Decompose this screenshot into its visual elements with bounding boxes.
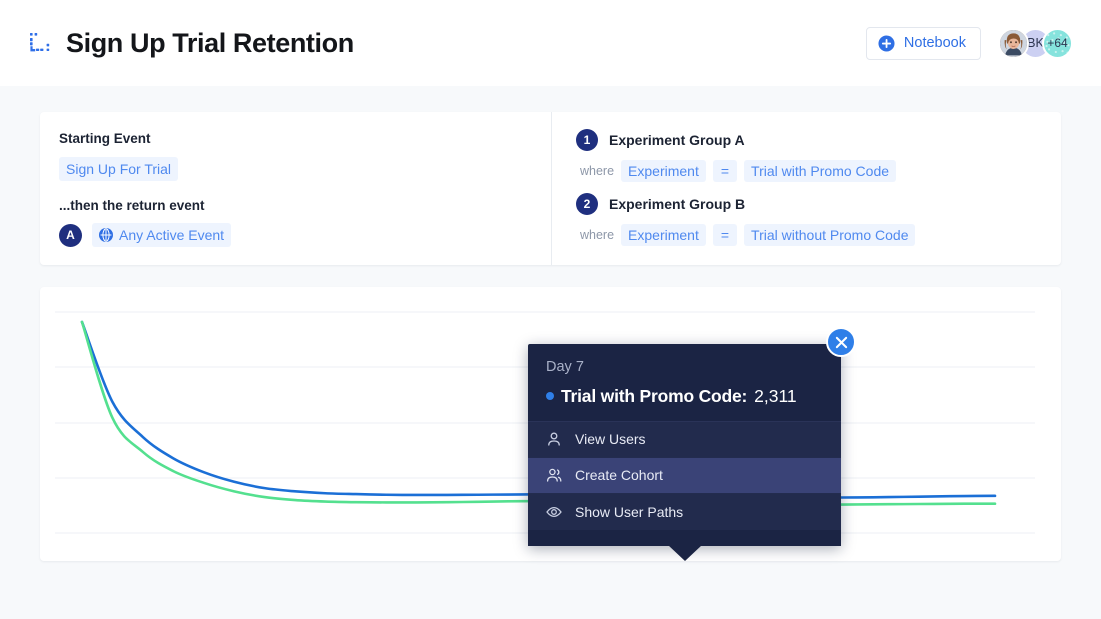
menu-item-label: Show User Paths [575,504,683,520]
tooltip-close-button[interactable] [826,327,856,357]
page-title: Sign Up Trial Retention [66,30,354,57]
menu-item-label: View Users [575,431,646,447]
avatar-photo[interactable] [998,28,1029,59]
app-root: Sign Up Trial Retention Notebook [0,0,1101,619]
where-keyword: where [576,228,614,242]
close-icon [835,336,848,349]
menu-item-show-user-paths[interactable]: Show User Paths [528,494,841,530]
filter-property-chip[interactable]: Experiment [621,160,706,182]
experiment-group-row: 2 Experiment Group B [576,193,1061,215]
menu-item-create-cohort[interactable]: Create Cohort [528,458,841,494]
header-left-group: Sign Up Trial Retention [0,30,354,57]
users-icon [546,467,562,483]
menu-item-view-users[interactable]: View Users [528,422,841,458]
page-body: Starting Event Sign Up For Trial ...then… [0,86,1101,619]
group-number-badge: 2 [576,193,598,215]
starting-event-chip[interactable]: Sign Up For Trial [59,157,178,181]
experiment-group-row: 1 Experiment Group A [576,129,1061,151]
retention-chart-icon [27,30,53,56]
where-keyword: where [576,164,614,178]
notebook-button-label: Notebook [904,35,966,51]
tooltip-arrow [668,545,702,561]
group-filter-row: where Experiment = Trial with Promo Code [576,160,1061,182]
series-color-dot [546,392,554,400]
tooltip-action-menu: View Users Create Cohort [528,421,841,530]
tooltip-footer [528,530,841,546]
group-filter-row: where Experiment = Trial without Promo C… [576,224,1061,246]
tooltip-value-row: Trial with Promo Code: 2,311 [546,386,823,407]
chart-tooltip-popup[interactable]: Day 7 Trial with Promo Code: 2,311 View [528,344,841,546]
tooltip-series-label: Trial with Promo Code: [561,386,747,407]
config-split: Starting Event Sign Up For Trial ...then… [40,112,1061,265]
return-event-chip-label: Any Active Event [119,227,224,243]
query-config-card: Starting Event Sign Up For Trial ...then… [40,112,1061,265]
user-icon [546,431,562,447]
avatar-overflow-label: +64 [1047,36,1067,50]
eye-icon [546,504,562,520]
app-header: Sign Up Trial Retention Notebook [0,0,1101,86]
plus-circle-icon [878,35,895,52]
group-number-badge: 1 [576,129,598,151]
tooltip-day-label: Day 7 [546,360,823,375]
tooltip-header: Day 7 Trial with Promo Code: 2,311 [528,344,841,421]
any-active-event-icon [99,228,113,242]
group-name-label: Experiment Group B [609,196,745,212]
config-events-panel: Starting Event Sign Up For Trial ...then… [40,112,551,265]
tooltip-series-value: 2,311 [754,386,797,407]
filter-value-chip[interactable]: Trial without Promo Code [744,224,915,246]
return-event-row: A Any Active Event [59,223,551,247]
notebook-button[interactable]: Notebook [866,27,981,60]
avatar-overflow-count[interactable]: +64 [1042,28,1073,59]
config-groups-panel: 1 Experiment Group A where Experiment = … [552,112,1061,265]
filter-value-chip[interactable]: Trial with Promo Code [744,160,896,182]
group-name-label: Experiment Group A [609,132,745,148]
filter-operator-chip[interactable]: = [713,160,737,182]
return-event-chip[interactable]: Any Active Event [92,223,231,247]
then-return-event-label: ...then the return event [59,199,551,213]
starting-event-label: Starting Event [59,132,551,146]
filter-property-chip[interactable]: Experiment [621,224,706,246]
filter-operator-chip[interactable]: = [713,224,737,246]
menu-item-label: Create Cohort [575,467,663,483]
header-right-group: Notebook [866,27,1101,60]
avatar-group[interactable]: BK +64 [998,28,1073,59]
return-event-badge: A [59,224,82,247]
